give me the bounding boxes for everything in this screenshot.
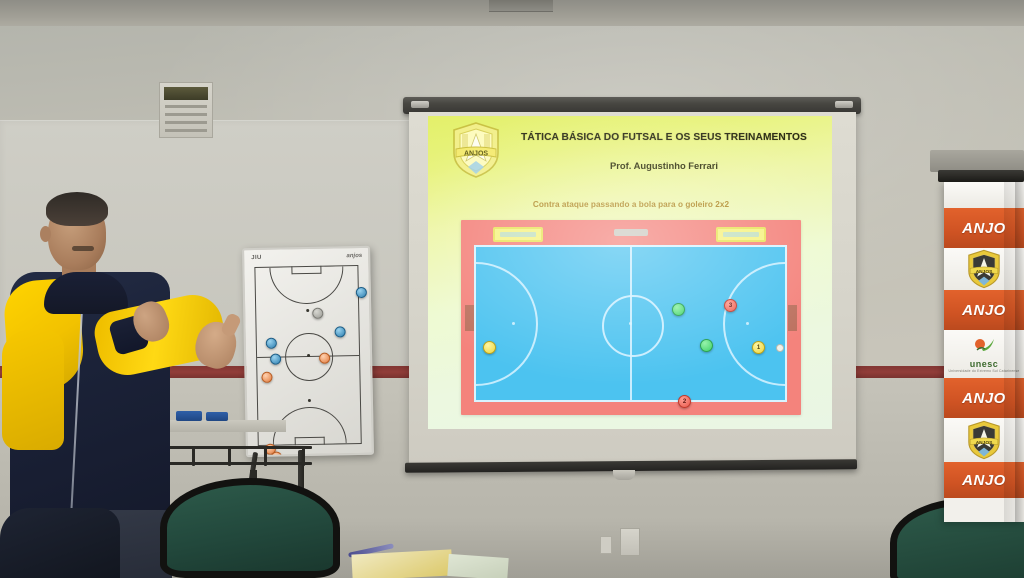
penalty-arc-left (476, 262, 538, 386)
wall-outlet[interactable] (620, 528, 640, 556)
svg-text:ANJOS: ANJOS (464, 151, 488, 158)
player-marker-red-3: 3 (724, 299, 737, 312)
banner-anjos-shield-icon: ANJOS (966, 249, 1002, 289)
presenter-left-arm (2, 330, 64, 450)
presentation-photo-scene: ANJOS TÁTICA BÁSICA DO FUTSAL E OS SEUS … (0, 0, 1024, 578)
board-magnet-blue-3[interactable] (270, 354, 281, 365)
wall-outlet-small[interactable] (600, 536, 612, 554)
player-marker-yellow-5 (483, 341, 496, 354)
board-magnet-blue-2[interactable] (266, 338, 277, 349)
center-circle (602, 295, 664, 357)
penalty-arc-right (723, 262, 785, 386)
futsal-court-diagram: 312 (461, 220, 801, 415)
board-court (254, 265, 361, 446)
goal-mouth-left (465, 305, 474, 331)
wall-notice-header (164, 87, 208, 100)
presenter-ear (40, 226, 51, 242)
goal-top-right (716, 227, 766, 242)
slide-title: TÁTICA BÁSICA DO FUTSAL E OS SEUS TREINA… (504, 132, 824, 143)
board-magnet-gray-4[interactable] (312, 308, 323, 319)
anjos-shield-logo: ANJOS (450, 121, 502, 179)
center-spot (629, 322, 632, 325)
board-magnet-orange-6[interactable] (261, 372, 272, 383)
top-gray-bar (614, 229, 648, 236)
housing-end-cap (411, 101, 429, 108)
presentation-slide: ANJOS TÁTICA BÁSICA DO FUTSAL E OS SEUS … (428, 116, 832, 429)
board-magnet-blue-0[interactable] (356, 287, 367, 298)
banner-anjo-wordmark: ANJO (962, 220, 1006, 237)
penalty-spot-left (512, 322, 515, 325)
board-spot-top (306, 309, 309, 312)
presenter-hair (46, 192, 108, 226)
wall-notice-line (165, 113, 207, 116)
banner-top-pole (938, 170, 1024, 182)
svg-text:ANJOS: ANJOS (976, 440, 993, 446)
unesc-leaf-icon (969, 336, 999, 354)
board-magnet-blue-1[interactable] (335, 326, 346, 337)
goal-mouth-right (788, 305, 797, 331)
presenter-collar (44, 272, 128, 314)
ceiling-vent (489, 0, 553, 12)
wall-notice-line (165, 105, 207, 108)
board-goal-top (291, 266, 321, 275)
player-marker-green-2 (700, 339, 713, 352)
wall-unit (930, 150, 1024, 172)
presenter-moustache (72, 246, 94, 251)
goal-net (723, 232, 759, 237)
board-brand-left: JIU (251, 255, 262, 261)
housing-end-cap (835, 101, 853, 108)
wall-notice-line (165, 129, 207, 132)
slide-subtitle: Prof. Augustinho Ferrari (504, 160, 824, 171)
slide-caption: Contra ataque passando a bola para o gol… (448, 200, 814, 209)
board-spot-bottom (307, 399, 310, 402)
player-marker-yellow-1: 1 (752, 341, 765, 354)
penalty-spot-right (746, 322, 749, 325)
banner-anjo-wordmark: ANJO (962, 472, 1006, 489)
board-center-spot (307, 354, 310, 357)
goal-net (500, 232, 536, 237)
banner-shadow (1004, 182, 1024, 522)
banner-anjo-wordmark: ANJO (962, 302, 1006, 319)
paper-sheet[interactable] (447, 554, 508, 578)
chair-foreground-left[interactable] (160, 478, 340, 578)
player-marker-green-0 (672, 303, 685, 316)
wall-notice-sign (159, 82, 213, 138)
person-foreground (0, 508, 120, 578)
court-surface: 312 (474, 245, 787, 402)
banner-anjos-shield-icon: ANJOS (966, 420, 1002, 460)
ball-marker (776, 344, 784, 352)
screen-pull-handle[interactable] (613, 470, 635, 480)
wall-notice-line (165, 121, 207, 124)
goal-top-left (493, 227, 543, 242)
player-marker-red-2: 2 (678, 395, 691, 408)
banner-anjo-wordmark: ANJO (962, 390, 1006, 407)
papers-on-table[interactable] (351, 549, 452, 578)
svg-text:ANJOS: ANJOS (976, 269, 993, 275)
board-brand-right: anjos (346, 253, 362, 259)
